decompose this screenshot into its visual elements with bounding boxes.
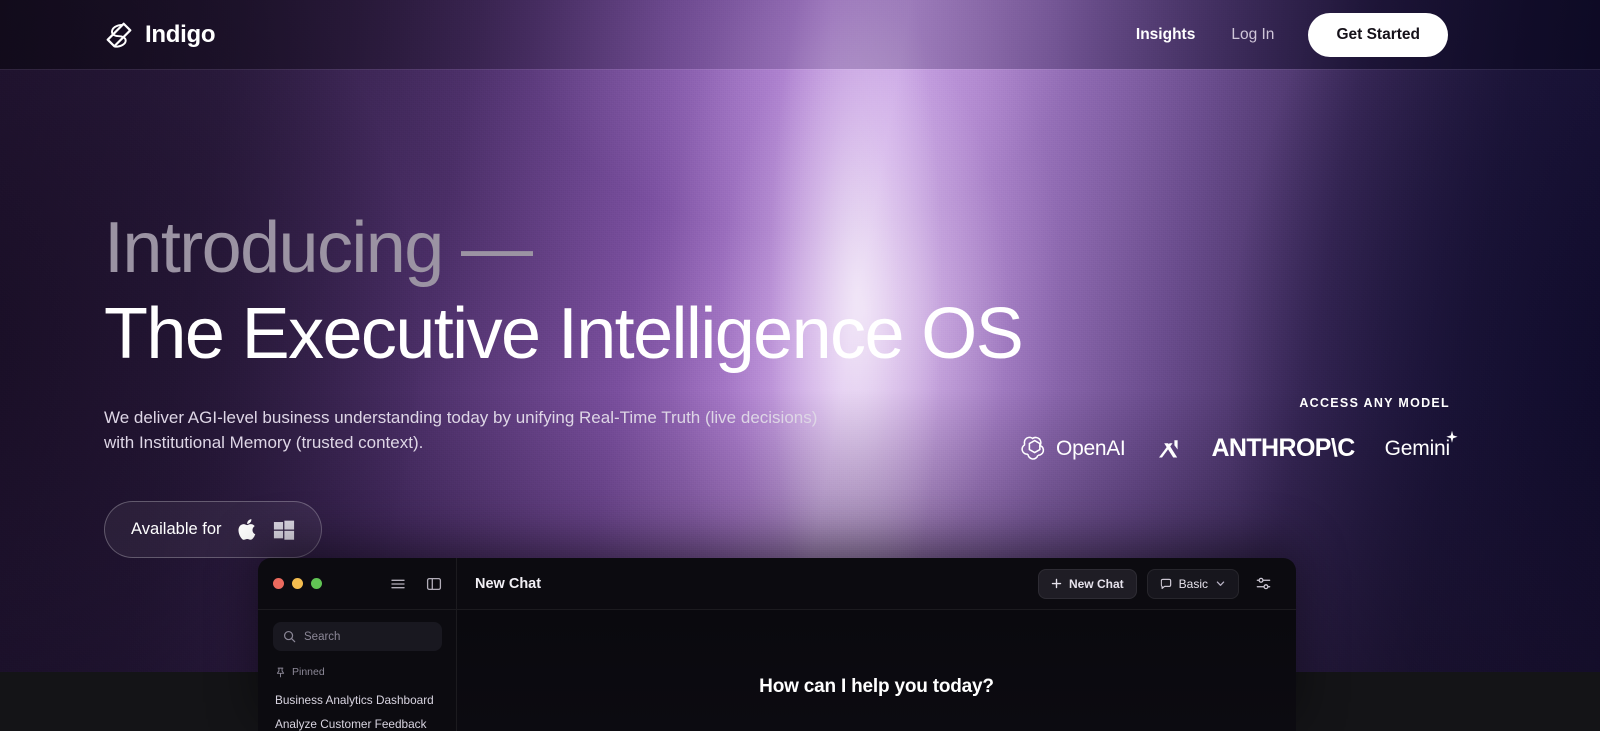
hero-title: The Executive Intelligence OS — [104, 298, 1004, 370]
access-any-model-section: ACCESS ANY MODEL OpenAI — [1018, 396, 1450, 463]
sidebar-titlebar-icons — [390, 576, 442, 592]
brand-name: Indigo — [145, 21, 215, 49]
sliders-icon — [1255, 575, 1272, 592]
chat-toolbar: New Chat Basic — [1038, 569, 1278, 599]
toggle-sidebar-icon[interactable] — [426, 576, 442, 592]
hero-eyebrow: Introducing — — [104, 212, 1004, 284]
pin-icon — [275, 667, 286, 678]
model-name-anthropic: ANTHROP\C — [1211, 434, 1354, 463]
indigo-logo-mark — [104, 20, 134, 50]
hero-content: Introducing — The Executive Intelligence… — [104, 212, 1004, 558]
model-openai: OpenAI — [1018, 434, 1125, 463]
site-header: Indigo Insights Log In Get Started — [0, 0, 1600, 70]
header-nav: Insights Log In Get Started — [1136, 13, 1448, 57]
window-minimize-button[interactable] — [292, 578, 303, 589]
mode-label: Basic — [1179, 577, 1208, 591]
app-sidebar: Search Pinned Business Analytics Dashboa… — [258, 610, 457, 731]
gemini-sparkle-icon — [1445, 430, 1459, 444]
list-item[interactable]: Analyze Customer Feedback — [273, 712, 442, 731]
search-icon — [283, 630, 296, 643]
nav-link-log-in[interactable]: Log In — [1231, 20, 1274, 50]
model-logos-row: OpenAI ANTHROP\C Gemini — [1018, 434, 1450, 463]
available-for-label: Available for — [131, 520, 222, 539]
model-gemini: Gemini — [1385, 437, 1450, 461]
nav-link-insights[interactable]: Insights — [1136, 20, 1195, 50]
chat-settings-button[interactable] — [1249, 569, 1278, 598]
greeting-text: How can I help you today? — [759, 676, 994, 698]
chat-bubble-icon — [1160, 578, 1172, 590]
app-titlebar: New Chat New Chat Ba — [258, 558, 1296, 610]
hero-subhead: We deliver AGI-level business understand… — [104, 406, 844, 455]
new-chat-button[interactable]: New Chat — [1038, 569, 1137, 599]
access-any-model-label: ACCESS ANY MODEL — [1018, 396, 1450, 410]
openai-icon — [1018, 434, 1047, 463]
xai-icon — [1155, 436, 1181, 462]
app-main-titlebar: New Chat New Chat Ba — [457, 558, 1296, 609]
windows-icon[interactable] — [273, 519, 295, 541]
search-input[interactable]: Search — [273, 622, 442, 651]
list-item[interactable]: Business Analytics Dashboard — [273, 688, 442, 712]
app-preview-window: New Chat New Chat Ba — [258, 558, 1296, 731]
model-name-gemini: Gemini — [1385, 437, 1450, 461]
window-close-button[interactable] — [273, 578, 284, 589]
app-sidebar-titlebar — [258, 558, 457, 609]
window-traffic-lights — [273, 578, 322, 589]
window-maximize-button[interactable] — [311, 578, 322, 589]
mode-selector-button[interactable]: Basic — [1147, 569, 1239, 599]
available-for-button[interactable]: Available for — [104, 501, 322, 558]
plus-icon — [1051, 578, 1062, 589]
model-name-openai: OpenAI — [1056, 437, 1125, 461]
get-started-button[interactable]: Get Started — [1308, 13, 1448, 57]
model-xai — [1155, 436, 1181, 462]
pinned-section-header: Pinned — [275, 666, 442, 678]
model-anthropic: ANTHROP\C — [1211, 434, 1354, 463]
app-body: Search Pinned Business Analytics Dashboa… — [258, 610, 1296, 731]
apple-icon[interactable] — [238, 517, 259, 542]
app-main-panel: How can I help you today? — [457, 610, 1296, 731]
chat-title: New Chat — [475, 576, 541, 592]
new-chat-label: New Chat — [1069, 577, 1124, 591]
chevron-down-icon — [1215, 578, 1226, 589]
platform-icons — [238, 517, 295, 542]
pinned-label: Pinned — [292, 666, 325, 678]
brand-logo[interactable]: Indigo — [104, 20, 215, 50]
hamburger-menu-icon[interactable] — [390, 576, 406, 592]
search-placeholder: Search — [304, 631, 340, 643]
hero-headline: Introducing — The Executive Intelligence… — [104, 212, 1004, 370]
